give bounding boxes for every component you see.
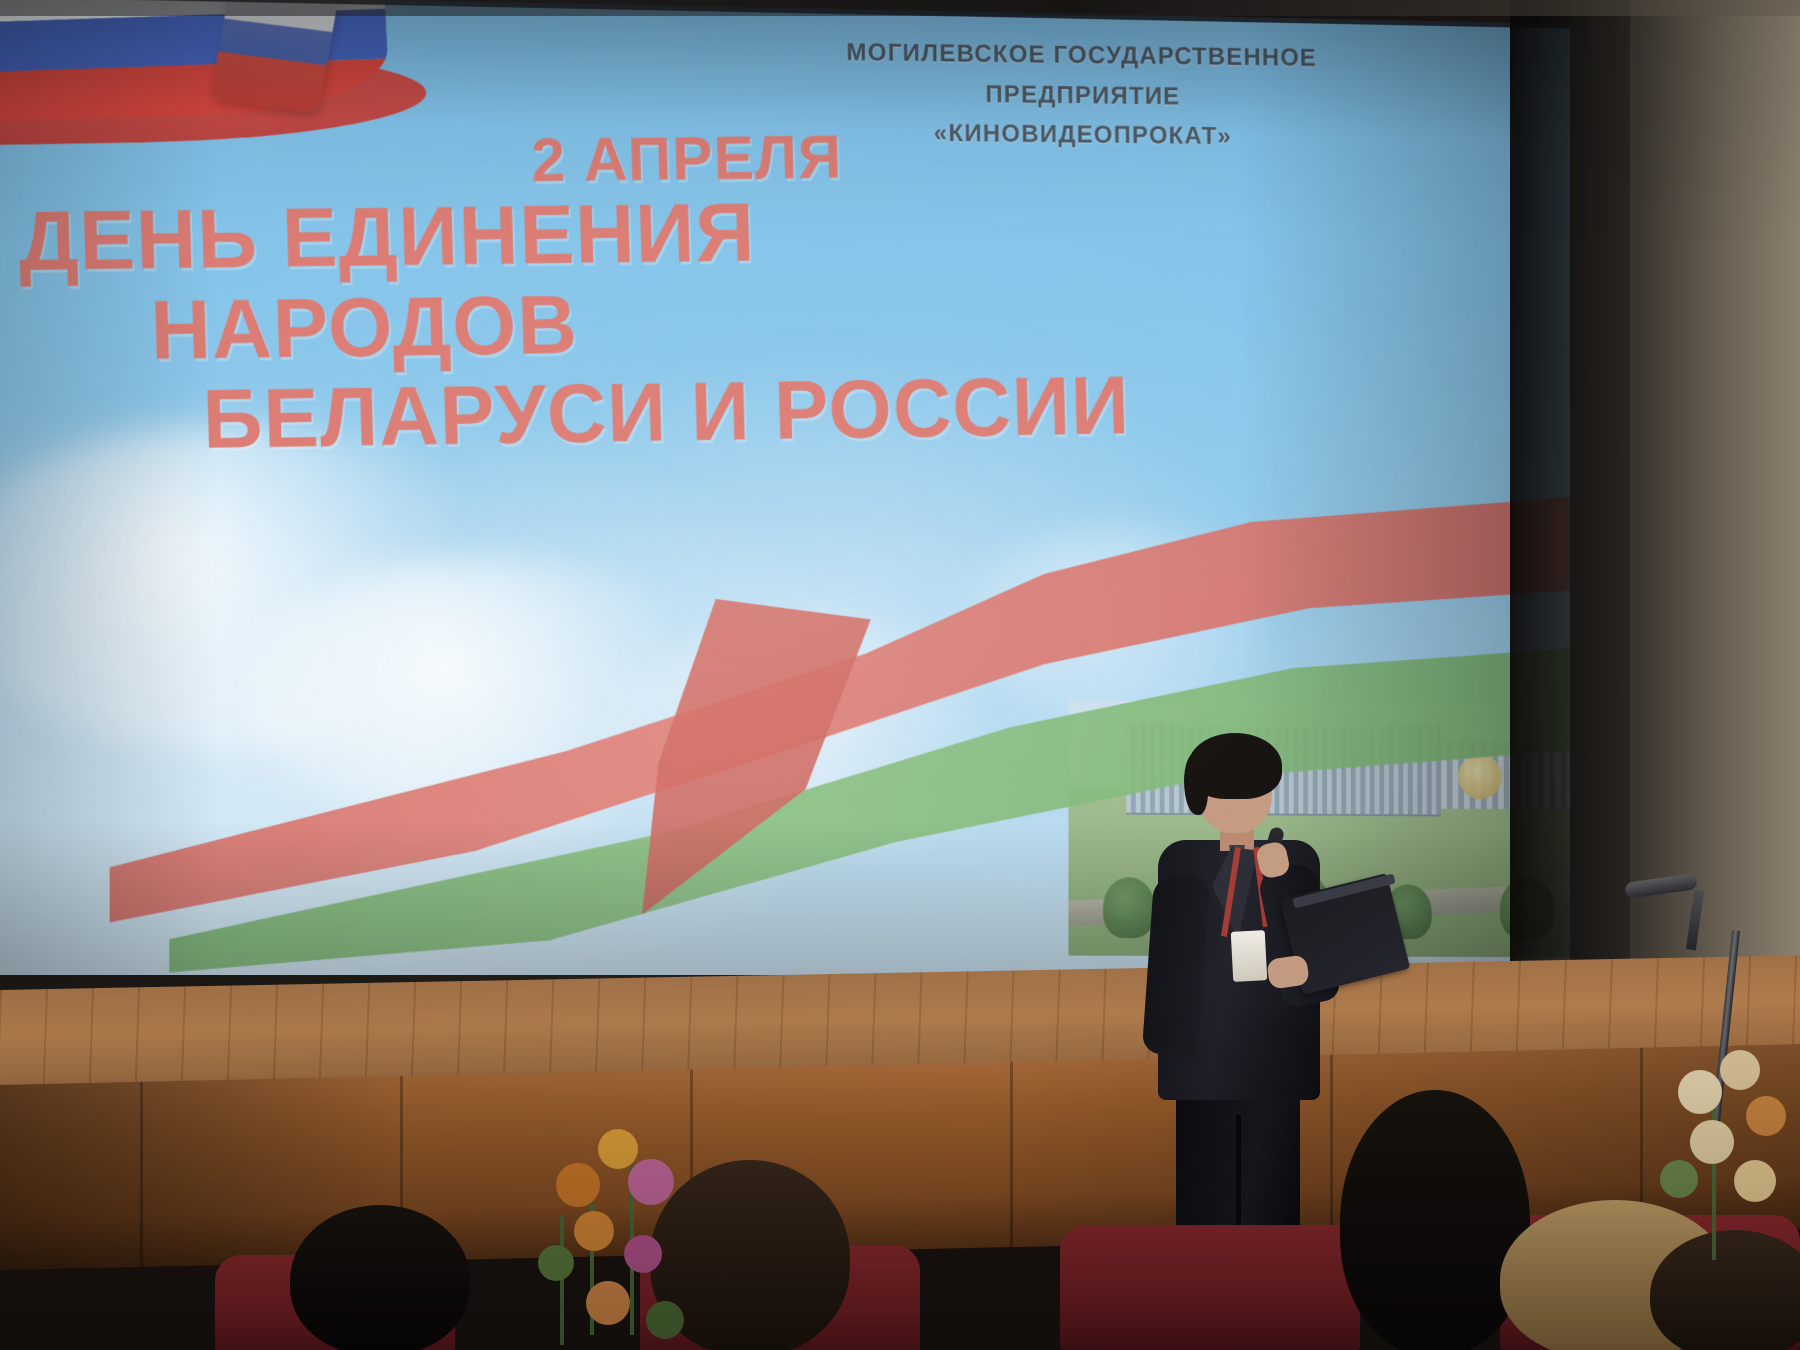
wall-shadow (1510, 0, 1630, 1000)
slide-title-line-2: ДЕНЬ ЕДИНЕНИЯ (17, 181, 1317, 287)
presenter-hair-side (1184, 753, 1208, 815)
presenter-figure (1140, 735, 1380, 1245)
flower-bouquet-left (520, 1115, 740, 1350)
building-emblem (1458, 754, 1502, 799)
ceiling-edge (0, 0, 1800, 16)
audience-head (1340, 1090, 1530, 1350)
slide-title-line-4: БЕЛАРУСИ И РОССИИ (201, 358, 1321, 465)
presenter-badge (1231, 930, 1268, 982)
audience-head (290, 1205, 470, 1350)
photograph-scene: МОГИЛЕВСКОЕ ГОСУДАРСТВЕННОЕ ПРЕДПРИЯТИЕ … (0, 0, 1800, 1350)
audience-seat (1060, 1225, 1360, 1350)
slide-title: 2 АПРЕЛЯ ДЕНЬ ЕДИНЕНИЯ НАРОДОВ БЕЛАРУСИ … (6, 118, 1322, 469)
flower-bouquet-right (1650, 1050, 1800, 1290)
flag-curl (210, 0, 341, 113)
slide-title-line-3: НАРОДОВ (149, 270, 1319, 376)
